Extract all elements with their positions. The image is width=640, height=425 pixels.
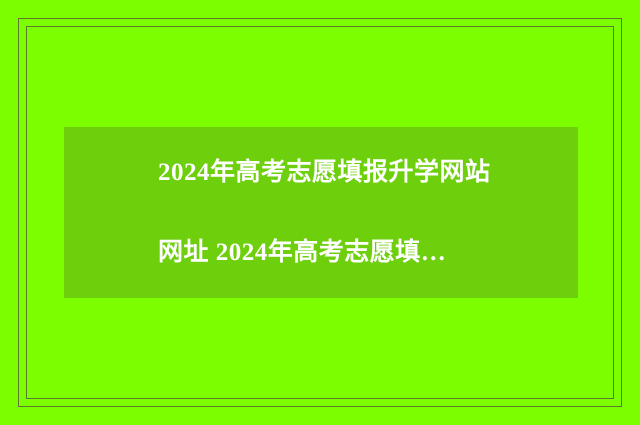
page-title-line-2: 网址 2024年高考志愿填…: [158, 233, 491, 273]
poster-canvas: 2024年高考志愿填报升学网站 网址 2024年高考志愿填…: [0, 0, 640, 425]
headline-card: 2024年高考志愿填报升学网站 网址 2024年高考志愿填…: [64, 127, 578, 298]
page-title: 2024年高考志愿填报升学网站 网址 2024年高考志愿填…: [64, 113, 491, 313]
page-title-line-1: 2024年高考志愿填报升学网站: [158, 153, 491, 193]
